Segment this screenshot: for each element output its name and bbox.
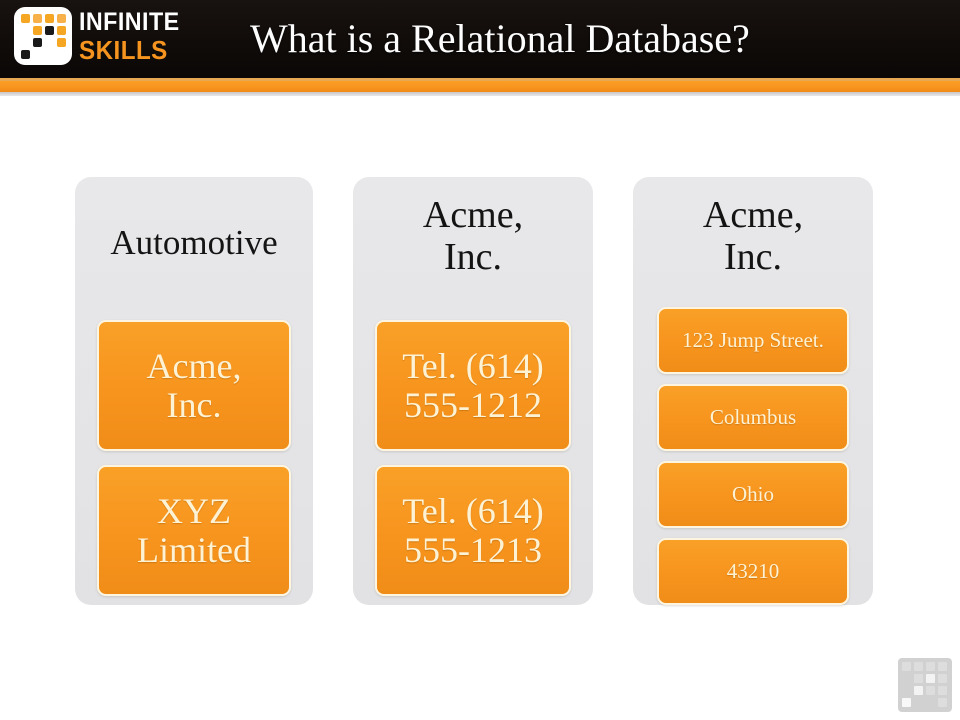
brand-logo[interactable]: INFINITE SKILLS	[14, 5, 214, 67]
panel-title: Automotive	[75, 224, 313, 263]
record-card[interactable]: 123 Jump Street.	[657, 307, 849, 374]
brand-word-skills: SKILLS	[79, 37, 180, 63]
record-card[interactable]: XYZLimited	[97, 465, 291, 596]
brand-wordmark: INFINITE SKILLS	[79, 10, 187, 63]
panel-card-list: Acme,Inc. XYZLimited	[97, 320, 291, 596]
panel-title: Acme,Inc.	[633, 195, 873, 279]
panel-title: Acme,Inc.	[353, 195, 593, 279]
header-accent-bar	[0, 81, 960, 92]
record-card[interactable]: Acme,Inc.	[97, 320, 291, 451]
panel-card-list: Tel. (614)555-1212 Tel. (614)555-1213	[375, 320, 571, 596]
record-card[interactable]: Ohio	[657, 461, 849, 528]
record-card[interactable]: Columbus	[657, 384, 849, 451]
pixel-grid-icon	[14, 7, 72, 65]
pixel-grid-watermark-icon	[898, 658, 952, 712]
title-bar: INFINITE SKILLS What is a Relational Dat…	[0, 0, 960, 78]
panel-card-list: 123 Jump Street. Columbus Ohio 43210	[657, 307, 849, 605]
page-title: What is a Relational Database?	[250, 12, 940, 66]
table-panel-acme-phones: Acme,Inc. Tel. (614)555-1212 Tel. (614)5…	[353, 177, 593, 605]
brand-word-infinite: INFINITE	[79, 10, 180, 35]
table-panel-automotive: Automotive Acme,Inc. XYZLimited	[75, 177, 313, 605]
record-card[interactable]: Tel. (614)555-1212	[375, 320, 571, 451]
relational-tables-diagram: Automotive Acme,Inc. XYZLimited Acme,Inc…	[0, 96, 960, 656]
record-card[interactable]: Tel. (614)555-1213	[375, 465, 571, 596]
table-panel-acme-address: Acme,Inc. 123 Jump Street. Columbus Ohio…	[633, 177, 873, 605]
record-card[interactable]: 43210	[657, 538, 849, 605]
